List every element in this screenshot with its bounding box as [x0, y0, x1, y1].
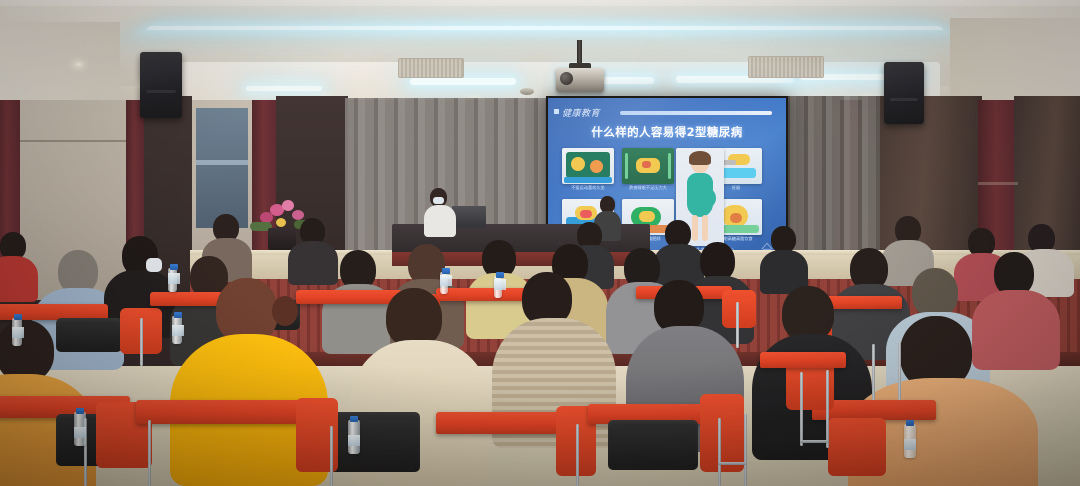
attendee-hair-bun [272, 296, 298, 326]
presenter-laptop [452, 206, 486, 228]
card-art-tv-couch [562, 148, 614, 184]
desk-tablet [436, 412, 566, 434]
slide-title: 什么样的人容易得2型糖尿病 [548, 124, 786, 140]
bottle-label [348, 435, 360, 446]
ceiling-left-return [0, 22, 120, 112]
slide-logo-text: 健康教育 [562, 106, 616, 118]
ceiling-light-fixture-5 [246, 86, 322, 91]
cove-light-strip [146, 26, 944, 30]
presenter-face-mask-icon [433, 197, 444, 204]
bottle-label [74, 427, 86, 438]
desk-tablet [436, 288, 536, 301]
bottle-label [172, 325, 184, 336]
seat-leg-crossbar [800, 440, 828, 443]
slide-logo-mark [554, 109, 559, 114]
seat-shell [828, 418, 886, 476]
water-bottle [74, 412, 86, 446]
seat-leg [576, 424, 579, 486]
water-bottle [440, 272, 448, 294]
seat-back [608, 420, 698, 470]
desk-tablet [136, 400, 314, 424]
seat-leg [872, 344, 875, 400]
slide-card-caption-1: 不爱运动喜欢久坐 [565, 185, 611, 190]
downlight-1 [74, 62, 83, 67]
water-bottle [494, 276, 502, 298]
attendee-torso [0, 256, 38, 302]
seat-leg [744, 414, 747, 486]
bottle-cap [496, 272, 504, 278]
seat-shell [700, 394, 744, 472]
seat-leg [826, 370, 829, 448]
seat-leg [898, 342, 901, 400]
flower-vase [268, 228, 296, 250]
bottle-label [904, 439, 916, 450]
flower-petal [292, 210, 304, 220]
wall-speaker-left [140, 52, 182, 118]
bottle-cap [442, 268, 450, 274]
desk-tablet [296, 290, 402, 304]
water-bottle [172, 316, 182, 344]
slide-card-row-1: 不爱运动喜欢久坐 熬夜睡眠不足压力大 妊娠 [560, 148, 774, 195]
seat-leg [718, 418, 721, 486]
seat-shell [722, 290, 756, 328]
projector-lens-icon [560, 72, 573, 85]
card-art-insomnia [622, 148, 674, 184]
attendee-head [771, 226, 796, 253]
slide-card-2 [622, 148, 674, 184]
air-vent-left [398, 58, 464, 78]
smoke-detector-icon [520, 88, 534, 95]
seat-leg [330, 426, 333, 486]
flower-accent [276, 218, 286, 227]
bottle-cap [174, 312, 182, 318]
air-vent-right [748, 56, 824, 78]
seat-leg [140, 318, 143, 366]
water-bottle [12, 318, 22, 346]
bottle-cap [14, 314, 22, 320]
slide-card-caption-2: 熬夜睡眠不足压力大 [625, 185, 671, 190]
wall-speaker-right [884, 62, 924, 124]
water-bottle [348, 420, 360, 454]
wall-seam-right [978, 182, 1018, 185]
bottle-cap [76, 408, 84, 414]
wall-glass-reflection [196, 108, 248, 228]
bottle-label [12, 327, 24, 338]
slide-card-1 [562, 148, 614, 184]
water-bottle [904, 424, 916, 458]
bottle-label [494, 279, 506, 290]
seat-leg [736, 302, 739, 348]
ceiling-light-fixture-1 [410, 78, 516, 85]
slide-header-bar [620, 111, 772, 115]
seat-leg [148, 420, 151, 486]
attendee-head [386, 288, 442, 348]
seat-back [56, 318, 122, 352]
lecture-hall-photo: 健康教育 什么样的人容易得2型糖尿病 [0, 0, 1080, 486]
attendee-head [912, 268, 958, 318]
attendee-torso [288, 241, 338, 285]
attendee-head [0, 320, 54, 382]
seat-leg-crossbar [718, 462, 746, 465]
desk-tablet [760, 352, 846, 368]
water-bottle [168, 268, 177, 292]
attendee-face-mask-icon [146, 258, 162, 272]
attendee-torso [972, 290, 1060, 370]
presenter-torso [424, 205, 456, 237]
bottle-cap [170, 264, 178, 270]
bottle-cap [906, 420, 914, 426]
bottle-label [440, 275, 452, 286]
seat-leg [800, 372, 803, 446]
bottle-cap [350, 416, 358, 422]
bottle-label [168, 273, 180, 284]
wall-glass-highlight [196, 160, 248, 165]
flower-petal [282, 200, 294, 211]
